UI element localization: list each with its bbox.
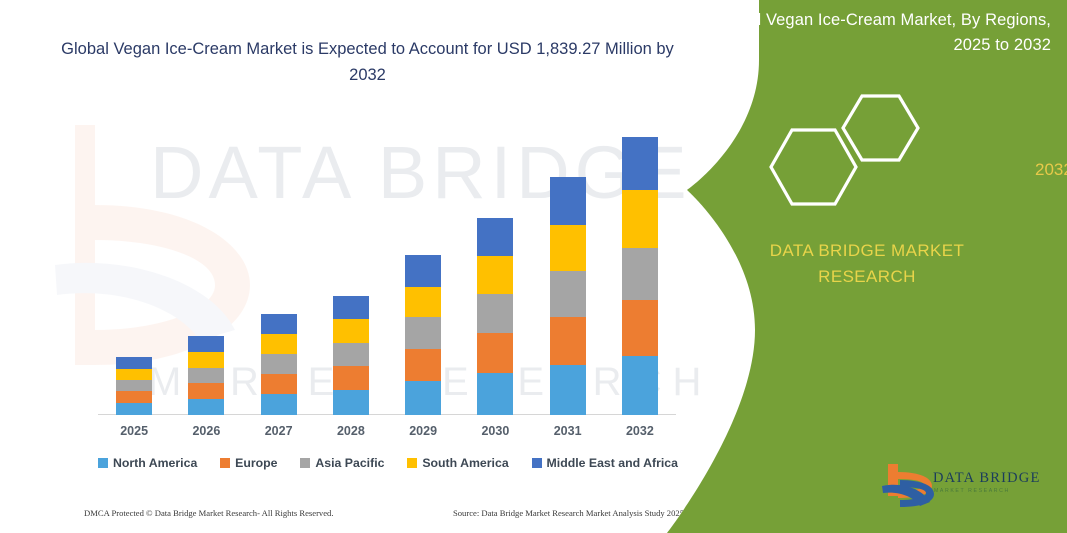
- legend-item[interactable]: Asia Pacific: [300, 456, 384, 470]
- chart-legend: North AmericaEuropeAsia PacificSouth Ame…: [98, 456, 678, 470]
- footer-copyright: DMCA Protected © Data Bridge Market Rese…: [84, 508, 334, 518]
- infographic-page: DATA BRIDGE MARKET RESEARCH Global Vegan…: [0, 0, 1067, 533]
- bar-segment: [405, 317, 441, 349]
- bar-segment: [188, 368, 224, 383]
- bar-segment: [333, 319, 369, 343]
- bar-segment: [405, 349, 441, 381]
- bar-segment: [116, 380, 152, 391]
- bar-segment: [550, 271, 586, 318]
- bar-segment: [261, 314, 297, 334]
- bar-segment: [188, 352, 224, 368]
- bar-segment: [405, 255, 441, 287]
- legend-item[interactable]: Middle East and Africa: [532, 456, 678, 470]
- bar-column: [333, 296, 369, 415]
- stacked-bar-plot: [98, 120, 676, 415]
- bar-segment: [261, 354, 297, 374]
- x-axis-label: 2031: [532, 424, 604, 438]
- bar-segment: [188, 336, 224, 352]
- bar-segment: [188, 383, 224, 399]
- bar-column: [116, 357, 152, 415]
- x-axis-label: 2030: [459, 424, 531, 438]
- logo-wordmark: DATA BRIDGE: [933, 470, 1041, 487]
- logo-subtitle: MARKET RESEARCH: [934, 488, 1010, 494]
- legend-swatch-icon: [300, 458, 310, 468]
- bar-segment: [261, 394, 297, 415]
- bar-segment: [116, 369, 152, 380]
- brand-line-1: DATA BRIDGE MARKET: [687, 238, 1047, 264]
- legend-label: Asia Pacific: [315, 456, 384, 470]
- bar-segment: [477, 294, 513, 333]
- bar-segment: [550, 225, 586, 271]
- bar-column: [622, 137, 658, 415]
- bar-segment: [333, 343, 369, 366]
- bar-column: [477, 218, 513, 415]
- legend-swatch-icon: [220, 458, 230, 468]
- x-axis-label: 2028: [315, 424, 387, 438]
- hexagon-icons: [757, 88, 947, 213]
- bar-segment: [333, 296, 369, 319]
- hexagon-badges: [757, 88, 947, 213]
- bar-segment: [622, 190, 658, 248]
- chart-title: Global Vegan Ice-Cream Market is Expecte…: [60, 36, 675, 88]
- x-axis-label: 2032: [604, 424, 676, 438]
- legend-item[interactable]: South America: [407, 456, 508, 470]
- bar-segment: [188, 399, 224, 415]
- legend-swatch-icon: [407, 458, 417, 468]
- bar-column: [405, 255, 441, 415]
- bar-segment: [116, 357, 152, 369]
- brand-line-2: RESEARCH: [687, 264, 1047, 290]
- footer-source: Source: Data Bridge Market Research Mark…: [453, 508, 684, 518]
- legend-label: Middle East and Africa: [547, 456, 678, 470]
- legend-label: South America: [422, 456, 508, 470]
- legend-label: Europe: [235, 456, 277, 470]
- legend-item[interactable]: North America: [98, 456, 197, 470]
- legend-swatch-icon: [532, 458, 542, 468]
- bar-segment: [477, 373, 513, 415]
- bar-segment: [333, 366, 369, 390]
- x-axis-labels: 20252026202720282029203020312032: [98, 424, 676, 446]
- legend-label: North America: [113, 456, 197, 470]
- x-axis-label: 2029: [387, 424, 459, 438]
- bar-segment: [405, 287, 441, 318]
- bar-segment: [261, 374, 297, 394]
- panel-title: Global Vegan Ice-Cream Market, By Region…: [691, 8, 1051, 58]
- bar-segment: [116, 403, 152, 415]
- hexagon-year-2032: 2032: [1035, 160, 1067, 180]
- green-panel: Global Vegan Ice-Cream Market, By Region…: [667, 0, 1067, 533]
- bar-segment: [261, 334, 297, 354]
- panel-content: Global Vegan Ice-Cream Market, By Region…: [667, 0, 1067, 533]
- bar-segment: [622, 137, 658, 190]
- chart-area: DATA BRIDGE MARKET RESEARCH Global Vegan…: [0, 0, 700, 533]
- legend-item[interactable]: Europe: [220, 456, 277, 470]
- bar-segment: [550, 365, 586, 415]
- bar-segment: [550, 317, 586, 365]
- bar-segment: [622, 248, 658, 301]
- legend-swatch-icon: [98, 458, 108, 468]
- x-axis-label: 2026: [170, 424, 242, 438]
- bar-column: [550, 177, 586, 415]
- bar-column: [188, 336, 224, 415]
- bar-column: [261, 314, 297, 415]
- bar-segment: [477, 256, 513, 295]
- bar-segment: [550, 177, 586, 225]
- bar-segment: [405, 381, 441, 415]
- brand-text: DATA BRIDGE MARKET RESEARCH: [687, 238, 1047, 290]
- bar-segment: [116, 391, 152, 403]
- footer: DMCA Protected © Data Bridge Market Rese…: [84, 508, 684, 518]
- bar-segment: [333, 390, 369, 415]
- bar-segment: [477, 333, 513, 373]
- x-axis-label: 2027: [243, 424, 315, 438]
- bar-segment: [477, 218, 513, 256]
- bar-segment: [622, 300, 658, 356]
- bar-segment: [622, 356, 658, 415]
- x-axis-label: 2025: [98, 424, 170, 438]
